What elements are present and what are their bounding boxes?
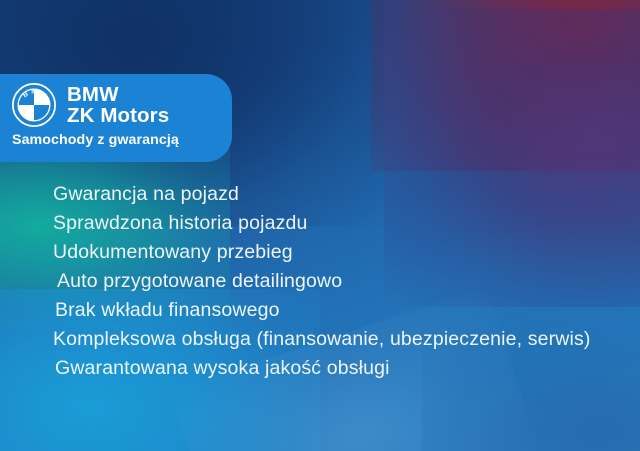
bmw-roundel-icon: B M W xyxy=(12,83,56,127)
benefit-item: Auto przygotowane detailingowo xyxy=(0,267,640,296)
dealer-badge-header: B M W BMW ZK Motors xyxy=(0,74,232,127)
dealer-badge-brand: BMW ZK Motors xyxy=(67,84,169,127)
benefit-item: Gwarancja na pojazd xyxy=(0,180,640,209)
benefit-item: Kompleksowa obsługa (finansowanie, ubezp… xyxy=(0,325,640,354)
benefit-list: Gwarancja na pojazd Sprawdzona historia … xyxy=(0,180,640,383)
benefit-item: Gwarantowana wysoka jakość obsługi xyxy=(0,354,640,383)
benefit-item: Sprawdzona historia pojazdu xyxy=(0,209,640,238)
benefit-item: Brak wkładu finansowego xyxy=(0,296,640,325)
dealer-badge: B M W BMW ZK Motors Samochody z gwarancj… xyxy=(0,74,232,162)
benefit-item: Udokumentowany przebieg xyxy=(0,238,640,267)
dealer-badge-tagline: Samochody z gwarancją xyxy=(0,127,232,148)
promo-banner: B M W BMW ZK Motors Samochody z gwarancj… xyxy=(0,0,640,451)
svg-text:M: M xyxy=(31,89,37,96)
brand-name-line1: BMW xyxy=(67,84,169,105)
brand-name-line2: ZK Motors xyxy=(67,105,169,126)
